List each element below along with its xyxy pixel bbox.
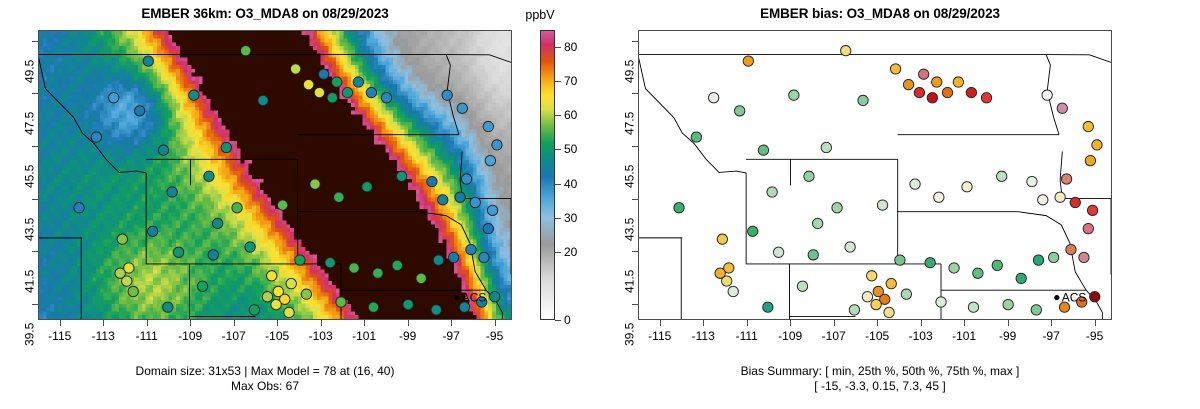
observation-marker[interactable] [332, 77, 342, 87]
observation-marker[interactable] [204, 171, 214, 181]
state-boundary [39, 55, 146, 173]
x-tick-label: -95 [1086, 329, 1103, 343]
y-tick-label: 45.5 [622, 165, 636, 188]
observation-marker[interactable] [674, 203, 684, 213]
observation-marker[interactable] [832, 203, 842, 213]
observation-marker[interactable] [490, 292, 500, 302]
observation-marker[interactable] [295, 255, 305, 265]
colorbar-tick-label: 20 [564, 245, 577, 259]
observation-marker[interactable] [1055, 192, 1065, 202]
observation-marker[interactable] [1070, 197, 1080, 207]
observation-marker[interactable] [734, 106, 744, 116]
x-tick [964, 320, 965, 326]
observation-marker[interactable] [797, 281, 807, 291]
x-tick-label: -111 [136, 329, 158, 343]
y-tick [632, 199, 638, 200]
observation-marker[interactable] [1061, 174, 1071, 184]
observation-marker[interactable] [867, 271, 877, 281]
observation-marker[interactable] [485, 155, 495, 165]
observation-marker[interactable] [479, 252, 489, 262]
observation-marker[interactable] [336, 297, 346, 307]
observation-marker[interactable] [109, 93, 119, 103]
panel-model-y-axis: 39.541.543.545.547.549.5 [4, 30, 38, 320]
observation-marker[interactable] [232, 203, 242, 213]
observation-marker[interactable] [973, 268, 983, 278]
observation-marker[interactable] [758, 145, 768, 155]
x-tick [877, 320, 878, 326]
y-tick-label: 49.5 [622, 59, 636, 82]
observation-marker[interactable] [334, 192, 344, 202]
x-tick-label: -113 [92, 329, 115, 343]
observation-marker[interactable] [709, 93, 719, 103]
colorbar-tick-label: 80 [564, 40, 577, 54]
observation-marker[interactable] [808, 250, 818, 260]
observation-marker[interactable] [884, 307, 894, 317]
x-tick [147, 320, 148, 326]
figure-root: EMBER 36km: O3_MDA8 on 08/29/2023 ACS -1… [0, 0, 1200, 409]
colorbar-tick [555, 320, 561, 321]
y-tick-label: 41.5 [22, 270, 36, 293]
panel-bias-plot-area: ACS [638, 30, 1112, 320]
observation-marker[interactable] [319, 69, 329, 79]
observation-marker[interactable] [1083, 121, 1093, 131]
observation-marker[interactable] [148, 226, 158, 236]
observation-marker[interactable] [981, 93, 991, 103]
observation-marker[interactable] [1092, 140, 1102, 150]
x-tick [103, 320, 104, 326]
observation-marker[interactable] [117, 234, 127, 244]
observation-marker[interactable] [249, 305, 259, 315]
x-tick-label: -103 [309, 329, 333, 343]
state-boundary [460, 151, 462, 198]
observation-marker[interactable] [927, 93, 937, 103]
observation-marker[interactable] [968, 302, 978, 312]
observation-marker[interactable] [158, 145, 168, 155]
city-marker-dot [1054, 295, 1059, 300]
observation-marker[interactable] [962, 182, 972, 192]
y-tick-label: 47.5 [622, 112, 636, 135]
observation-marker[interactable] [996, 171, 1006, 181]
x-tick [408, 320, 409, 326]
y-tick-label: 39.5 [22, 323, 36, 346]
y-tick [32, 304, 38, 305]
observation-marker[interactable] [466, 244, 476, 254]
observation-marker[interactable] [373, 268, 383, 278]
panel-bias-title: EMBER bias: O3_MDA8 on 08/29/2023 [610, 6, 1150, 21]
observation-marker[interactable] [353, 77, 363, 87]
observation-marker[interactable] [812, 218, 822, 228]
x-tick-label: -107 [222, 329, 246, 343]
panel-bias-x-axis: -115-113-111-109-107-105-103-101-99-97-9… [638, 320, 1112, 354]
observation-marker[interactable] [890, 64, 900, 74]
observation-marker[interactable] [934, 192, 944, 202]
y-tick [32, 41, 38, 42]
observation-marker[interactable] [748, 226, 758, 236]
observation-marker[interactable] [487, 205, 497, 215]
observation-marker[interactable] [189, 90, 199, 100]
observation-marker[interactable] [290, 64, 300, 74]
x-tick-label: -99 [999, 329, 1016, 343]
observation-marker[interactable] [942, 87, 952, 97]
x-tick [190, 320, 191, 326]
observation-marker[interactable] [362, 182, 372, 192]
observation-marker[interactable] [895, 255, 905, 265]
x-tick-label: -95 [486, 329, 503, 343]
observation-marker[interactable] [1042, 90, 1052, 100]
y-tick [632, 251, 638, 252]
model-colorbar-gradient [540, 30, 555, 320]
y-tick-label: 39.5 [622, 323, 636, 346]
panel-model-title: EMBER 36km: O3_MDA8 on 08/29/2023 [0, 6, 530, 21]
observation-marker[interactable] [392, 260, 402, 270]
observation-marker[interactable] [301, 289, 311, 299]
colorbar-tick [555, 149, 561, 150]
x-tick [451, 320, 452, 326]
observation-marker[interactable] [1033, 255, 1043, 265]
state-boundary [298, 212, 462, 225]
observation-marker[interactable] [342, 87, 352, 97]
observation-marker[interactable] [74, 203, 84, 213]
x-tick [364, 320, 365, 326]
panel-model-caption-line1: Domain size: 31x53 | Max Model = 78 at (… [0, 364, 530, 378]
colorbar-tick-label: 70 [564, 74, 577, 88]
observation-marker[interactable] [483, 223, 493, 233]
city-marker-label: ACS [462, 291, 487, 305]
x-tick [1095, 320, 1096, 326]
panel-model: EMBER 36km: O3_MDA8 on 08/29/2023 ACS -1… [0, 0, 600, 409]
observation-marker[interactable] [448, 252, 458, 262]
observation-marker[interactable] [949, 263, 959, 273]
y-tick [632, 41, 638, 42]
observation-marker[interactable] [763, 302, 773, 312]
observation-marker[interactable] [303, 79, 313, 89]
y-tick-label: 43.5 [622, 217, 636, 240]
x-tick [790, 320, 791, 326]
observation-marker[interactable] [992, 260, 1002, 270]
colorbar-tick [555, 115, 561, 116]
x-tick-label: -101 [352, 329, 376, 343]
observation-marker[interactable] [128, 286, 138, 296]
x-tick-label: -103 [909, 329, 933, 343]
observation-marker[interactable] [919, 69, 929, 79]
x-tick-label: -105 [865, 329, 889, 343]
observation-marker[interactable] [258, 95, 268, 105]
observation-marker[interactable] [457, 103, 467, 113]
observation-marker[interactable] [1087, 205, 1097, 215]
observation-marker[interactable] [804, 171, 814, 181]
model-map-overlay: ACS [39, 31, 511, 319]
x-tick-label: -115 [648, 329, 671, 343]
observation-marker[interactable] [208, 250, 218, 260]
panel-bias-caption-line2: [ -15, -3.3, 0.15, 7.3, 45 ] [600, 379, 1160, 393]
colorbar-tick-label: 50 [564, 142, 577, 156]
observation-marker[interactable] [442, 90, 452, 100]
observation-marker[interactable] [134, 106, 144, 116]
observation-marker[interactable] [914, 87, 924, 97]
observation-marker[interactable] [163, 302, 173, 312]
observation-marker[interactable] [277, 200, 287, 210]
y-tick [632, 146, 638, 147]
city-marker-dot [454, 295, 459, 300]
observation-marker[interactable] [773, 247, 783, 257]
observation-marker[interactable] [886, 278, 896, 288]
colorbar-tick-label: 60 [564, 108, 577, 122]
observation-marker[interactable] [858, 95, 868, 105]
x-tick [1051, 320, 1052, 326]
panel-model-caption-line2: Max Obs: 67 [0, 379, 530, 393]
observation-marker[interactable] [455, 192, 465, 202]
colorbar-tick [555, 47, 561, 48]
x-tick [703, 320, 704, 326]
x-tick [321, 320, 322, 326]
observation-marker[interactable] [743, 56, 753, 66]
observation-marker[interactable] [1048, 252, 1058, 262]
observation-marker[interactable] [262, 292, 272, 302]
observation-marker[interactable] [314, 87, 324, 97]
x-tick-label: -101 [952, 329, 976, 343]
x-tick-label: -97 [442, 329, 459, 343]
y-tick-label: 45.5 [22, 165, 36, 188]
x-tick-label: -113 [692, 329, 715, 343]
y-tick-label: 43.5 [22, 217, 36, 240]
observation-marker[interactable] [691, 132, 701, 142]
observation-marker[interactable] [849, 305, 859, 315]
city-marker-label: ACS [1062, 291, 1087, 305]
observation-marker[interactable] [284, 307, 294, 317]
observation-marker[interactable] [925, 258, 935, 268]
observation-marker[interactable] [416, 273, 426, 283]
colorbar-tick [555, 81, 561, 82]
y-tick-label: 47.5 [22, 112, 36, 135]
y-tick-label: 41.5 [622, 270, 636, 293]
observation-marker[interactable] [143, 56, 153, 66]
y-tick [32, 199, 38, 200]
observation-marker[interactable] [438, 195, 448, 205]
observation-marker[interactable] [310, 179, 320, 189]
observation-marker[interactable] [1003, 299, 1013, 309]
x-tick [495, 320, 496, 326]
colorbar-tick [555, 218, 561, 219]
observation-marker[interactable] [349, 263, 359, 273]
observation-marker[interactable] [789, 90, 799, 100]
observation-marker[interactable] [115, 268, 125, 278]
y-tick [632, 93, 638, 94]
x-tick-label: -111 [736, 329, 758, 343]
observation-marker[interactable] [212, 218, 222, 228]
observation-marker[interactable] [167, 187, 177, 197]
observation-marker[interactable] [427, 176, 437, 186]
colorbar-tick-label: 30 [564, 211, 577, 225]
x-tick [1008, 320, 1009, 326]
observation-marker[interactable] [241, 45, 251, 55]
panel-bias: EMBER bias: O3_MDA8 on 08/29/2023 ACS -1… [600, 0, 1200, 409]
observation-marker[interactable] [91, 132, 101, 142]
observation-marker[interactable] [483, 121, 493, 131]
colorbar-tick-label: 0 [564, 313, 571, 327]
y-tick-label: 49.5 [22, 59, 36, 82]
y-tick [32, 146, 38, 147]
observation-marker[interactable] [1090, 292, 1100, 302]
observation-marker[interactable] [903, 79, 913, 89]
observation-marker[interactable] [953, 77, 963, 87]
observation-marker[interactable] [1016, 273, 1026, 283]
observation-marker[interactable] [862, 292, 872, 302]
model-colorbar-unit: ppbV [525, 8, 554, 22]
observation-marker[interactable] [286, 278, 296, 288]
x-tick [660, 320, 661, 326]
y-tick [32, 251, 38, 252]
observation-marker[interactable] [492, 140, 502, 150]
observation-marker[interactable] [267, 271, 277, 281]
x-tick-label: -105 [265, 329, 289, 343]
x-tick-label: -107 [822, 329, 846, 343]
observation-marker[interactable] [1085, 155, 1095, 165]
observation-marker[interactable] [1079, 252, 1089, 262]
x-tick-label: -109 [178, 329, 202, 343]
colorbar-tick [555, 252, 561, 253]
observation-marker[interactable] [368, 302, 378, 312]
observation-marker[interactable] [821, 142, 831, 152]
panel-model-x-axis: -115-113-111-109-107-105-103-101-99-97-9… [38, 320, 512, 354]
observation-marker[interactable] [728, 286, 738, 296]
observation-marker[interactable] [1031, 305, 1041, 315]
panel-bias-caption-line1: Bias Summary: [ min, 25th %, 50th %, 75t… [600, 364, 1160, 378]
observation-marker[interactable] [845, 242, 855, 252]
observation-marker[interactable] [470, 197, 480, 207]
panel-model-plot-area: ACS [38, 30, 512, 320]
x-tick [834, 320, 835, 326]
observation-marker[interactable] [366, 87, 376, 97]
x-tick-label: -115 [48, 329, 71, 343]
x-tick [921, 320, 922, 326]
observation-marker[interactable] [1057, 103, 1067, 113]
observation-marker[interactable] [841, 45, 851, 55]
x-tick [234, 320, 235, 326]
observation-marker[interactable] [1066, 244, 1076, 254]
y-tick [32, 93, 38, 94]
colorbar-tick-label: 40 [564, 177, 577, 191]
observation-marker[interactable] [936, 297, 946, 307]
observation-marker[interactable] [717, 234, 727, 244]
observation-marker[interactable] [396, 171, 406, 181]
panel-bias-y-axis: 39.541.543.545.547.549.5 [604, 30, 638, 320]
observation-marker[interactable] [197, 281, 207, 291]
observation-marker[interactable] [433, 255, 443, 265]
observation-marker[interactable] [1027, 176, 1037, 186]
x-tick [277, 320, 278, 326]
observation-marker[interactable] [767, 187, 777, 197]
observation-marker[interactable] [327, 93, 337, 103]
observation-marker[interactable] [461, 174, 471, 184]
observation-marker[interactable] [877, 200, 887, 210]
bias-map-overlay: ACS [639, 31, 1111, 319]
observation-marker[interactable] [966, 87, 976, 97]
x-tick [60, 320, 61, 326]
observation-marker[interactable] [1083, 223, 1093, 233]
x-tick-label: -97 [1042, 329, 1059, 343]
observation-marker[interactable] [932, 77, 942, 87]
observation-marker[interactable] [715, 268, 725, 278]
observation-marker[interactable] [381, 93, 391, 103]
observation-marker[interactable] [271, 299, 281, 309]
observation-marker[interactable] [871, 299, 881, 309]
observation-marker[interactable] [403, 299, 413, 309]
x-tick-label: -99 [399, 329, 416, 343]
observation-marker[interactable] [173, 247, 183, 257]
observation-marker[interactable] [1038, 195, 1048, 205]
observation-marker[interactable] [221, 142, 231, 152]
colorbar-tick [555, 184, 561, 185]
state-boundary [39, 55, 511, 63]
observation-marker[interactable] [431, 305, 441, 315]
x-tick-label: -109 [778, 329, 802, 343]
observation-marker[interactable] [325, 258, 335, 268]
observation-marker[interactable] [901, 289, 911, 299]
observation-marker[interactable] [910, 179, 920, 189]
x-tick [747, 320, 748, 326]
observation-marker[interactable] [245, 242, 255, 252]
state-boundary [39, 133, 82, 238]
y-tick [632, 304, 638, 305]
